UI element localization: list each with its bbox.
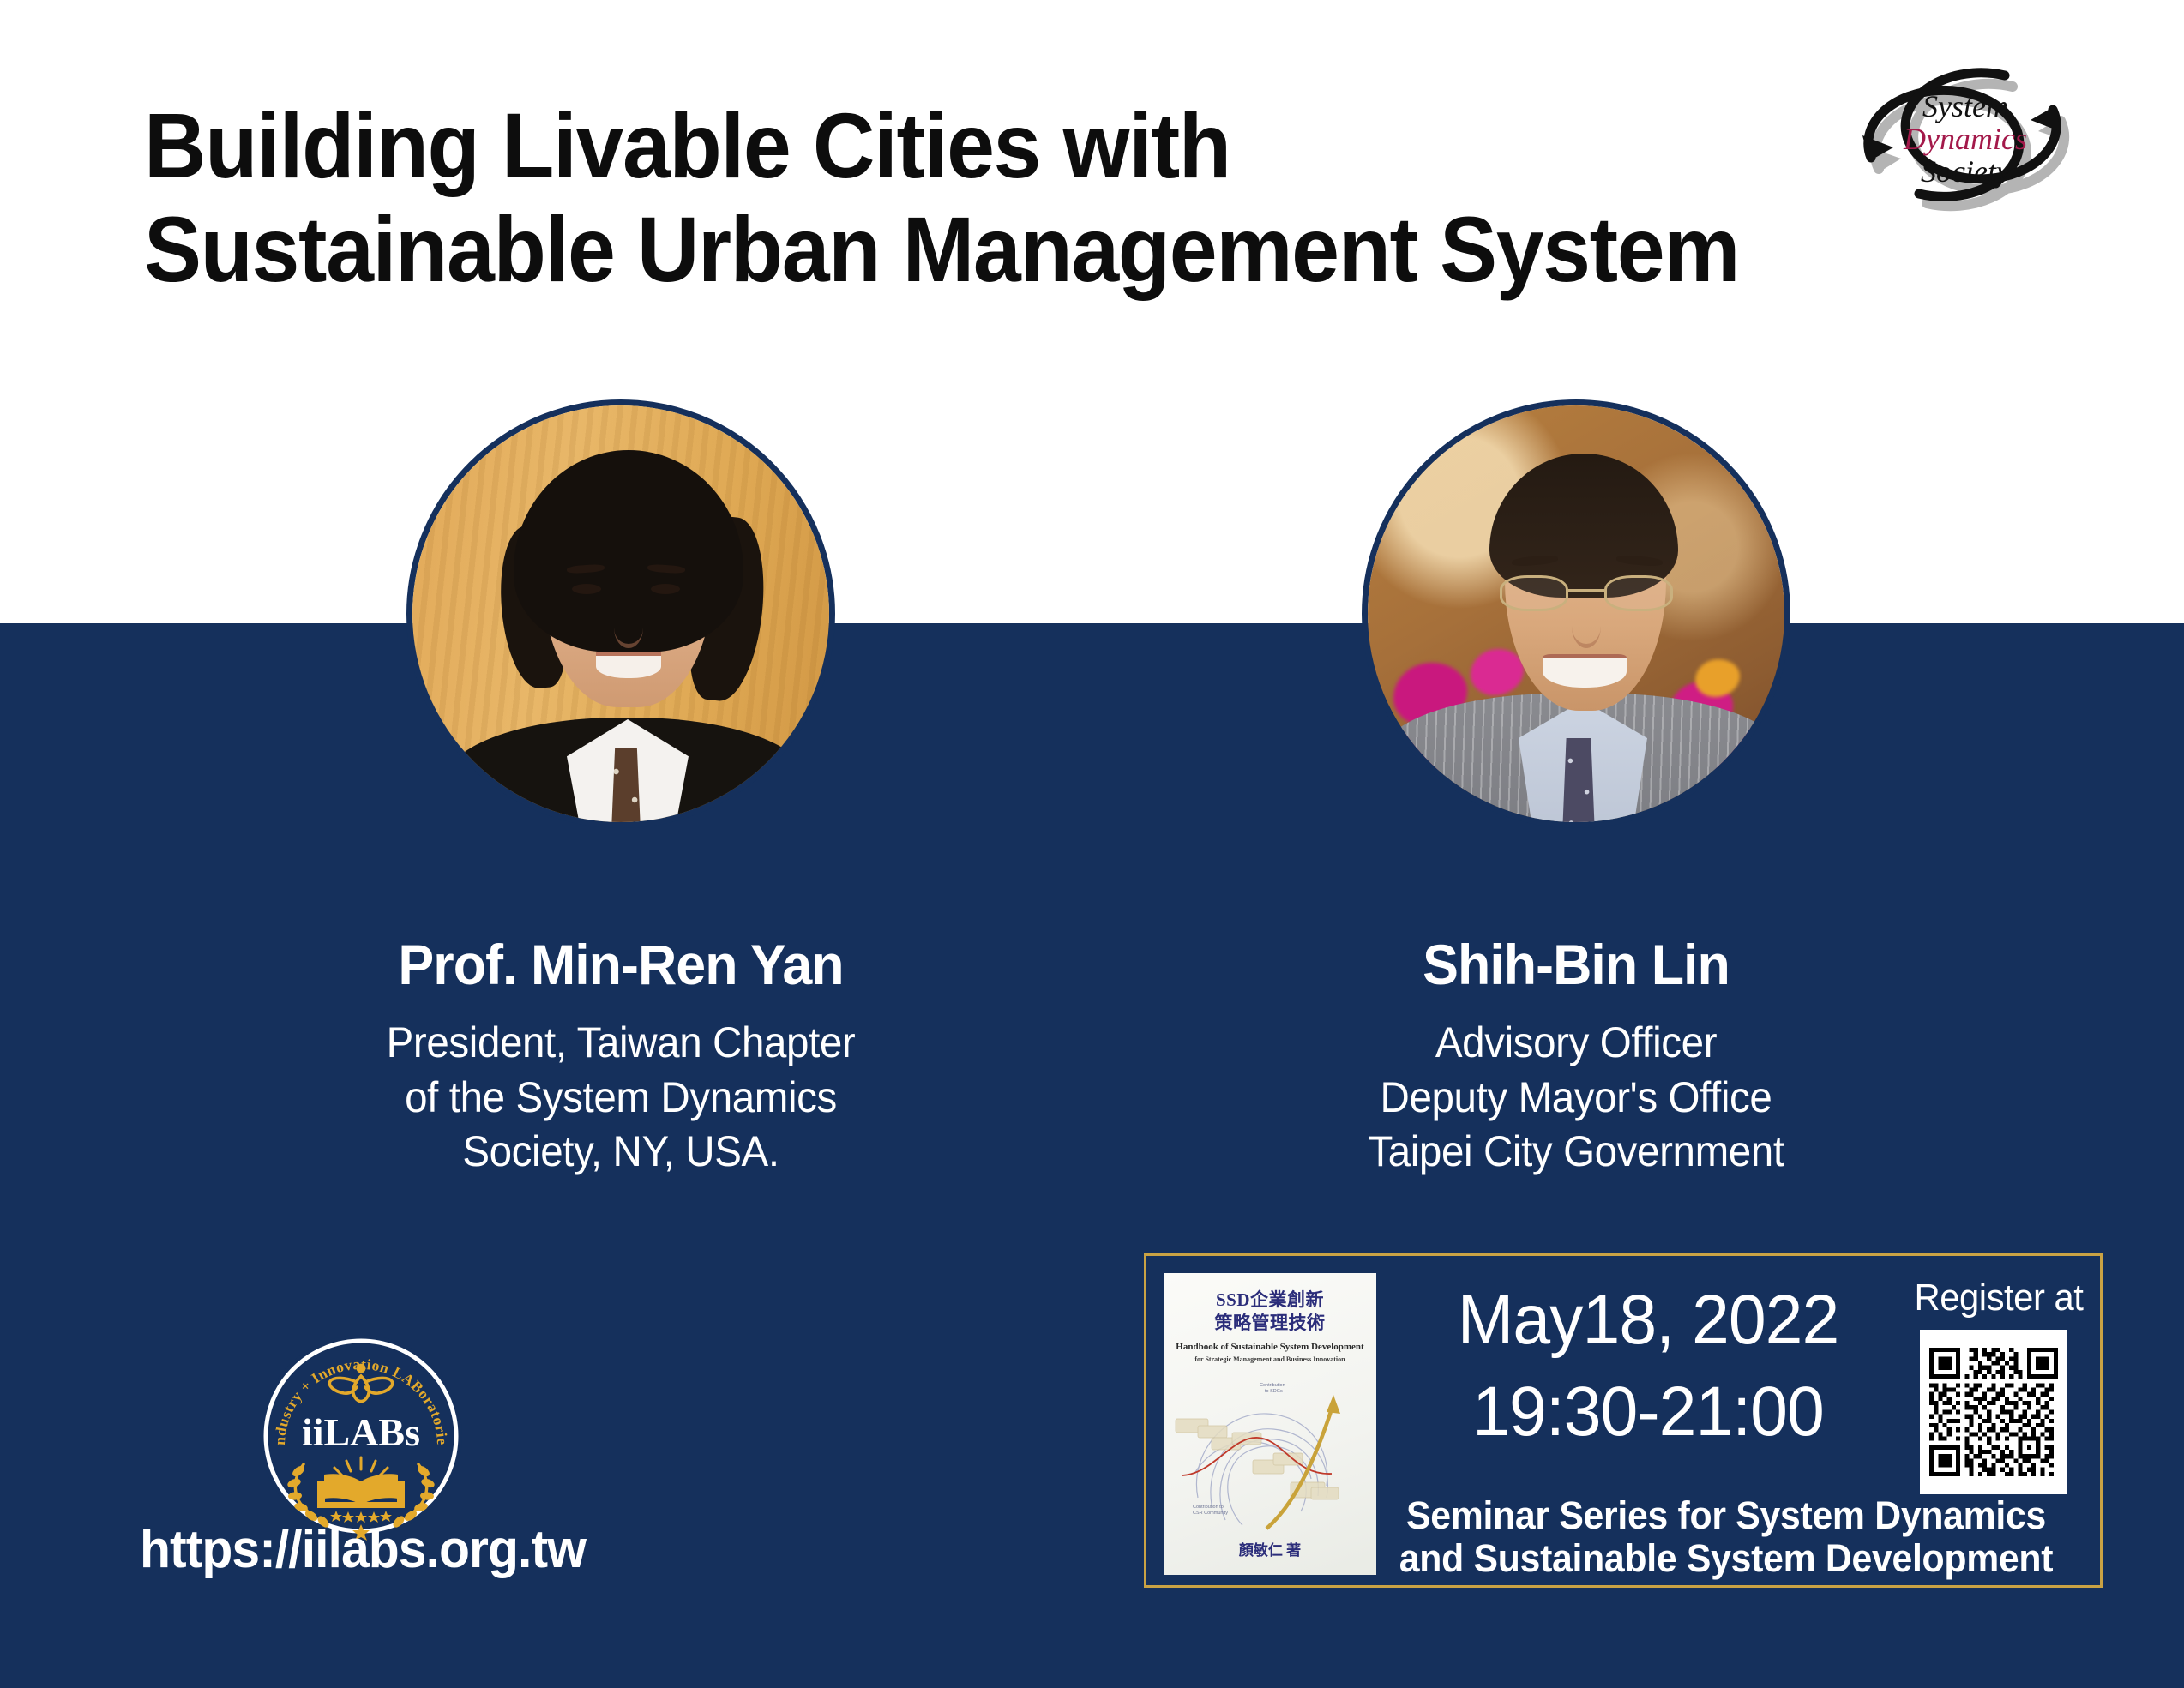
book-title-cn: SSD企業創新 策略管理技術 [1164, 1289, 1376, 1335]
svg-text:to SDGs: to SDGs [1265, 1389, 1283, 1394]
iilabs-logo: Industry + Innovation LABoratories iiLAB… [254, 1329, 468, 1543]
seminar-series-line-1: Seminar Series for System Dynamics [1384, 1494, 2068, 1537]
book-diagram-label-1: Contribution [1260, 1383, 1285, 1388]
svg-text:CSR Community: CSR Community [1193, 1511, 1228, 1516]
page-title: Building Livable Cities with Sustainable… [144, 94, 1945, 302]
speaker-1-info: Prof. Min-Ren Yan President, Taiwan Chap… [295, 934, 947, 1180]
event-datetime: May18, 2022 19:30-21:00 [1405, 1275, 1891, 1457]
sds-logo-line-1: System [1922, 89, 2008, 123]
title-line-2: Sustainable Urban Management System [144, 198, 1819, 302]
sds-logo-line-2: Dynamics [1903, 122, 2027, 156]
speaker-2-photo [1368, 405, 1784, 822]
event-time: 19:30-21:00 [1405, 1367, 1891, 1458]
iilabs-badge-name: iiLABs [302, 1410, 420, 1454]
speaker-1-role-line-3: Society, NY, USA. [311, 1125, 930, 1180]
title-line-1: Building Livable Cities with [144, 94, 1819, 198]
seminar-poster: Building Livable Cities with Sustainable… [0, 0, 2184, 1688]
book-title-cn-line-2: 策略管理技術 [1164, 1312, 1376, 1335]
speaker-1-role-line-2: of the System Dynamics [311, 1071, 930, 1126]
speaker-1-role-line-1: President, Taiwan Chapter [311, 1016, 930, 1071]
seminar-series-line-2: and Sustainable System Development [1384, 1537, 2068, 1580]
book-subtitle-en-2: for Strategic Management and Business In… [1164, 1355, 1376, 1364]
event-details-box: SSD企業創新 策略管理技術 Handbook of Sustainable S… [1144, 1253, 2103, 1588]
book-title-cn-line-1: SSD企業創新 [1164, 1289, 1376, 1312]
system-dynamics-society-logo: System Dynamics Society [1837, 53, 2094, 225]
speaker-1-name: Prof. Min-Ren Yan [311, 934, 930, 995]
sds-logo-line-3: Society [1921, 154, 2010, 189]
register-label: Register at [1910, 1277, 2089, 1319]
website-url[interactable]: https://iilabs.org.tw [98, 1519, 628, 1580]
speaker-1-photo [412, 405, 829, 822]
speaker-2-name: Shih-Bin Lin [1266, 934, 1886, 995]
avatar-speaker-1 [406, 399, 835, 828]
book-cover-diagram: Contribution to SDGs Contribution to CSR… [1164, 1369, 1376, 1532]
speaker-2-role: Advisory Officer Deputy Mayor's Office T… [1266, 1016, 1886, 1180]
seminar-series-text: Seminar Series for System Dynamics and S… [1384, 1494, 2068, 1581]
speaker-2-role-line-3: Taipei City Government [1266, 1125, 1886, 1180]
book-author: 顏敏仁 著 [1164, 1538, 1376, 1559]
speaker-2-info: Shih-Bin Lin Advisory Officer Deputy May… [1250, 934, 1902, 1180]
book-diagram-label-2: Contribution to [1193, 1505, 1224, 1510]
event-date: May18, 2022 [1405, 1275, 1891, 1367]
avatar-speaker-2 [1362, 399, 1790, 828]
book-subtitle-en-1: Handbook of Sustainable System Developme… [1164, 1342, 1376, 1354]
qr-code[interactable] [1920, 1330, 2067, 1494]
speaker-1-role: President, Taiwan Chapter of the System … [311, 1016, 930, 1180]
speaker-2-role-line-1: Advisory Officer [1266, 1016, 1886, 1071]
speaker-2-role-line-2: Deputy Mayor's Office [1266, 1071, 1886, 1126]
book-cover-image: SSD企業創新 策略管理技術 Handbook of Sustainable S… [1164, 1273, 1376, 1575]
